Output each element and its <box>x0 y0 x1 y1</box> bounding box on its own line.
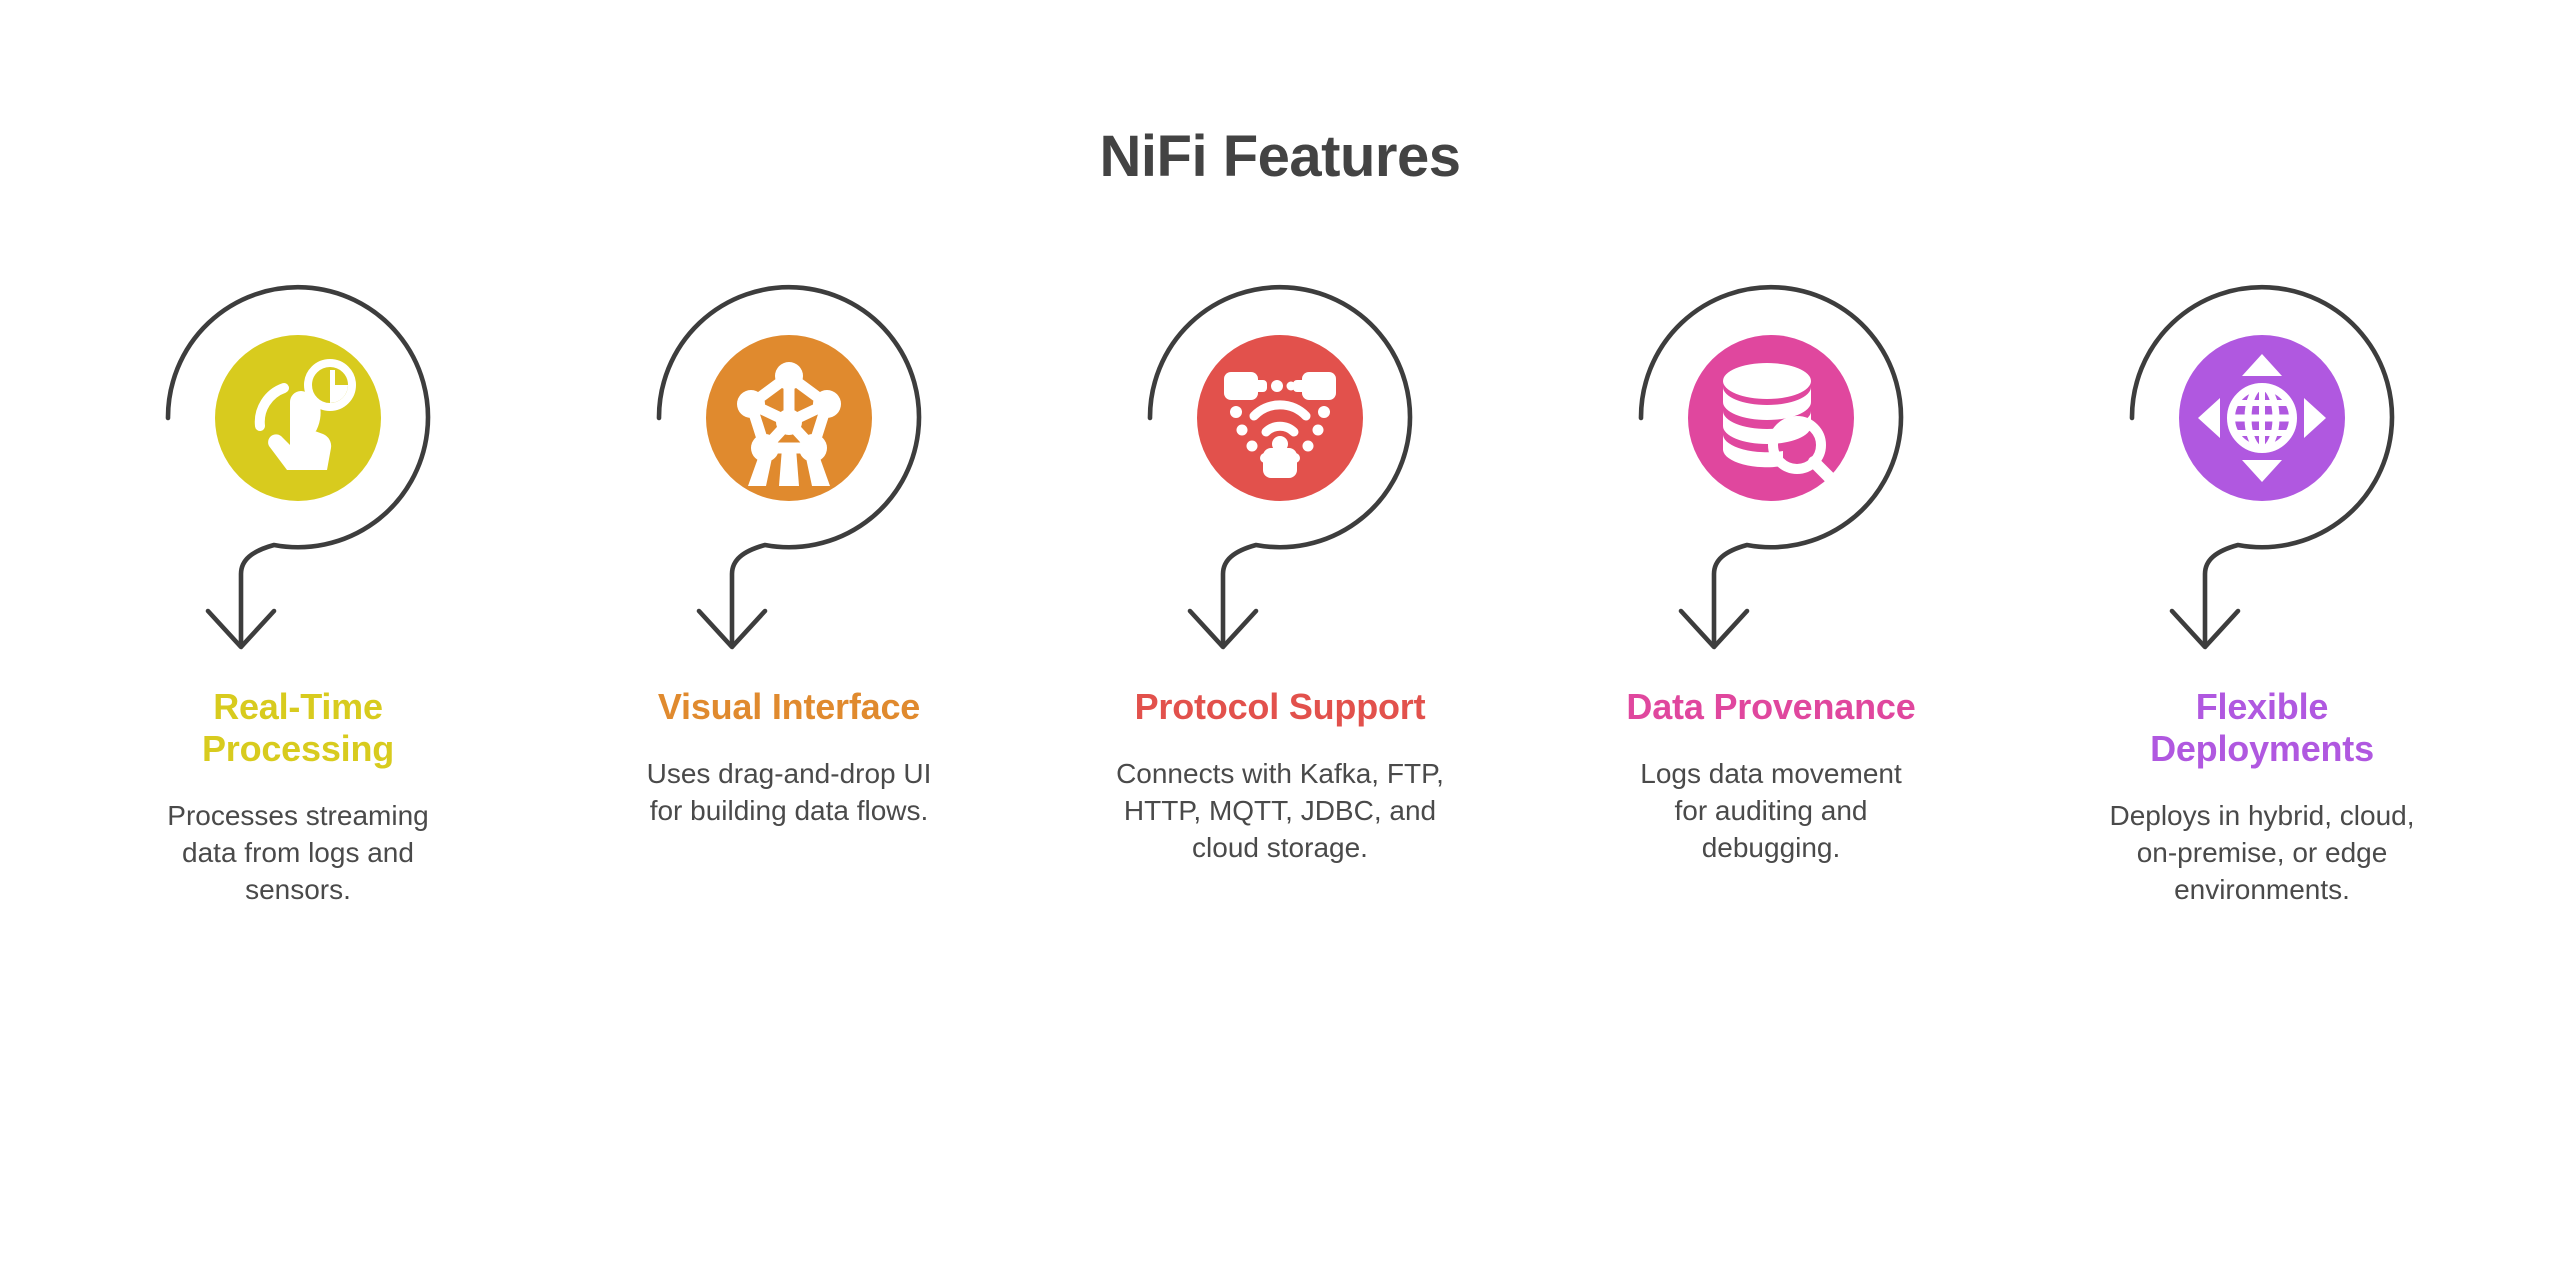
badge-data-provenance <box>1621 248 1921 608</box>
feature-card-visual-interface[interactable]: Visual Interface Uses drag-and-drop UI f… <box>556 248 1022 829</box>
feature-description: Uses drag-and-drop UI for building data … <box>639 755 939 829</box>
feature-card-protocol-support[interactable]: Protocol Support Connects with Kafka, FT… <box>1047 248 1513 866</box>
feature-heading: Data Provenance <box>1626 686 1915 728</box>
feature-heading: Flexible Deployments <box>2097 686 2427 770</box>
features-row: Real-Time Processing Processes streaming… <box>65 248 2495 908</box>
badge-flexible-deployments <box>2112 248 2412 608</box>
badge-real-time-processing <box>148 248 448 608</box>
title-container: NiFi Features <box>0 128 2560 186</box>
feature-description: Processes streaming data from logs and s… <box>148 797 448 909</box>
feature-heading: Visual Interface <box>658 686 920 728</box>
feature-card-data-provenance[interactable]: Data Provenance Logs data movement for a… <box>1538 248 2004 866</box>
feature-description: Connects with Kafka, FTP, HTTP, MQTT, JD… <box>1115 755 1445 867</box>
badge-protocol-support <box>1130 248 1430 608</box>
page-title: NiFi Features <box>0 128 2560 186</box>
feature-heading: Protocol Support <box>1135 686 1426 728</box>
feature-description: Deploys in hybrid, cloud, on-premise, or… <box>2097 797 2427 909</box>
nifi-features-infographic: NiFi Features <box>0 0 2560 1263</box>
feature-heading: Real-Time Processing <box>133 686 463 770</box>
feature-description: Logs data movement for auditing and debu… <box>1621 755 1921 867</box>
feature-card-flexible-deployments[interactable]: Flexible Deployments Deploys in hybrid, … <box>2029 248 2495 908</box>
feature-card-real-time-processing[interactable]: Real-Time Processing Processes streaming… <box>65 248 531 908</box>
badge-visual-interface <box>639 248 939 608</box>
